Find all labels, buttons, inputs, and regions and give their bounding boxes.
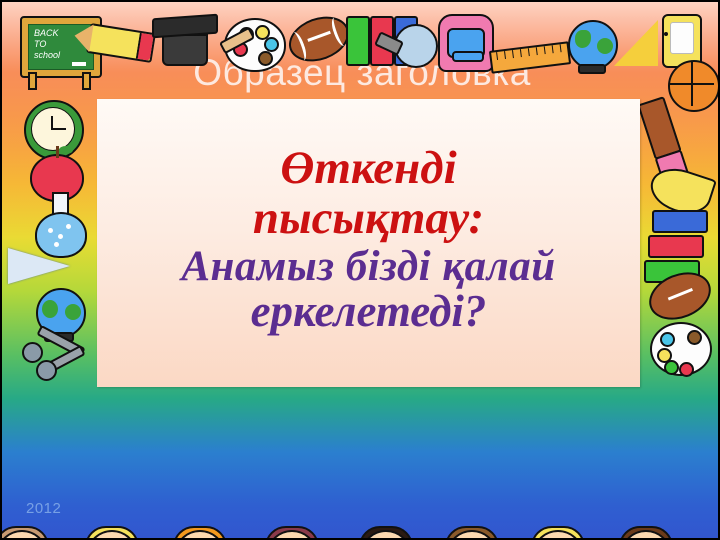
basketball-icon [664, 32, 668, 36]
kids-illustration-strip [2, 388, 720, 538]
question-line-1: Анамыз бізді қалай [107, 245, 630, 289]
master-title-placeholder: Образец заголовка [2, 52, 720, 94]
scissors-icon [20, 334, 86, 382]
paper-plane-icon [8, 248, 70, 284]
globe-icon [36, 288, 86, 338]
crayons-icon [652, 210, 708, 283]
paint-palette-icon [650, 322, 712, 376]
football-icon [648, 274, 712, 318]
content-text-box[interactable]: Өткенді пысықтау: Анамыз бізді қалай ерк… [97, 99, 640, 387]
heading-line-2: пысықтау: [107, 195, 630, 243]
question-line-2: еркелетеді? [107, 289, 630, 335]
presentation-slide: Образец заголовка Образец текста — Второ… [0, 0, 720, 540]
date-watermark: 2012 [26, 500, 61, 517]
heading-line-1: Өткенді [107, 145, 630, 193]
